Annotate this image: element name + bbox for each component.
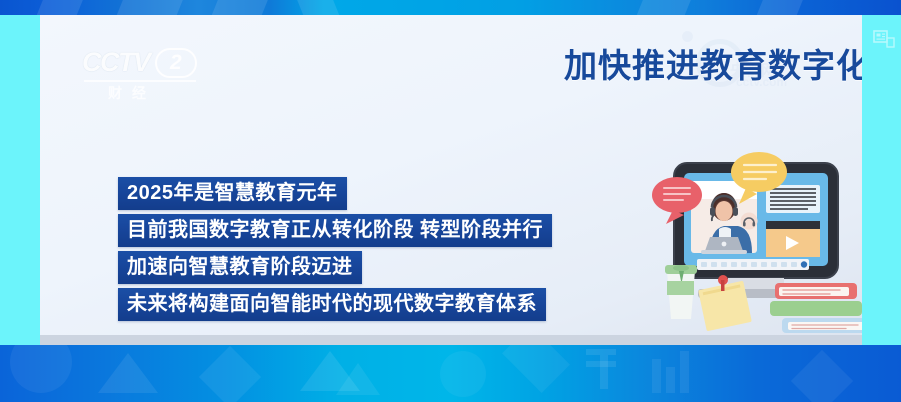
- broadcast-glyph-icon: [873, 29, 895, 49]
- book-green: [770, 301, 862, 316]
- person-face: [716, 201, 733, 221]
- online-education-illustration: [640, 137, 862, 345]
- left-cyan-rail: [0, 15, 40, 345]
- band-shape: [791, 350, 853, 402]
- cctv-logo-subtitle: 财经: [108, 83, 156, 103]
- caption-bar-group: 2025年是智慧教育元年 目前我国数字教育正从转化阶段 转型阶段并行 加速向智慧…: [118, 177, 552, 325]
- laptop-logo: [722, 242, 727, 247]
- band-shape: [336, 363, 380, 395]
- cctv-logo-text: CCTV: [82, 47, 150, 78]
- caption-bar-3: 加速向智慧教育阶段迈进: [118, 251, 362, 284]
- band-shape: [680, 351, 689, 393]
- band-shape: [209, 0, 271, 15]
- right-cyan-rail: [862, 15, 901, 345]
- band-shape: [634, 0, 694, 15]
- headphone-icon-left: [743, 222, 746, 227]
- band-shape: [502, 345, 570, 393]
- band-shape: [35, 0, 86, 15]
- band-shape: [754, 0, 806, 15]
- band-shape: [652, 359, 661, 393]
- band-shape: [10, 345, 72, 393]
- band-shape: [114, 0, 186, 15]
- headphone-icon-bg: [741, 213, 758, 230]
- broadcast-frame: 央视网 cctv.com CCTV 2 财经 加快推进教育数字化 2025年是智…: [0, 0, 901, 402]
- laptop-base: [701, 250, 747, 254]
- cctv-logo-number: 2: [170, 51, 182, 75]
- cctv-2-finance-logo: CCTV 2 财经: [82, 43, 202, 105]
- cctv-logo-rule: [84, 80, 196, 82]
- caption-bar-2: 目前我国数字教育正从转化阶段 转型阶段并行: [118, 214, 552, 247]
- coffee-cup: [665, 265, 697, 319]
- headset-right-cup: [733, 207, 738, 216]
- note-pin-needle: [721, 280, 725, 291]
- band-shape: [586, 361, 616, 367]
- caption-bar-4: 未来将构建面向智能时代的现代数字教育体系: [118, 288, 546, 321]
- book-stack: [770, 283, 862, 333]
- band-shape: [199, 346, 261, 402]
- band-shape: [666, 367, 675, 393]
- band-shape: [294, 0, 342, 15]
- video-player-titlebar: [766, 221, 820, 229]
- cctv-logo-pill: [155, 48, 197, 78]
- taskbar-active-dot: [801, 261, 807, 267]
- band-shape: [440, 351, 486, 397]
- band-shape: [98, 353, 158, 393]
- band-shape: [586, 349, 616, 355]
- headphone-icon-right: [753, 222, 756, 227]
- bottom-decorative-band: [0, 345, 901, 402]
- caption-bar-1: 2025年是智慧教育元年: [118, 177, 347, 210]
- bottom-grey-strip: [40, 335, 862, 345]
- top-decorative-band: [0, 0, 901, 15]
- content-stage: 央视网 cctv.com CCTV 2 财经 加快推进教育数字化 2025年是智…: [40, 15, 862, 345]
- page-title: 加快推进教育数字化: [500, 39, 862, 87]
